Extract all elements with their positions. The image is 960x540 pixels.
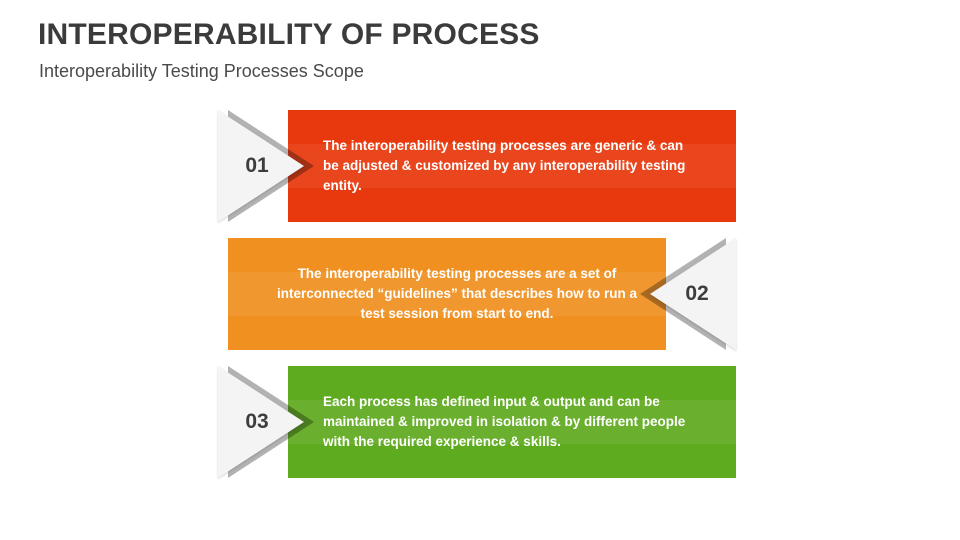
step-01-number: 01: [222, 110, 292, 222]
step-01-text-paragraph: The interoperability testing processes a…: [323, 136, 696, 196]
step-02-number: 02: [662, 238, 732, 350]
process-step-01[interactable]: 01 The interoperability testing processe…: [218, 110, 736, 222]
process-step-02[interactable]: 02 The interoperability testing processe…: [218, 238, 736, 350]
slide-canvas: INTEROPERABILITY OF PROCESS Interoperabi…: [0, 0, 960, 540]
process-step-03[interactable]: 03 Each process has defined input & outp…: [218, 366, 736, 478]
step-02-text: The interoperability testing processes a…: [273, 238, 641, 350]
step-03-number: 03: [222, 366, 292, 478]
step-01-text: The interoperability testing processes a…: [323, 110, 696, 222]
step-03-text: Each process has defined input & output …: [323, 366, 696, 478]
page-title: INTEROPERABILITY OF PROCESS: [38, 18, 540, 52]
step-03-text-paragraph: Each process has defined input & output …: [323, 392, 696, 452]
page-subtitle: Interoperability Testing Processes Scope: [39, 61, 364, 82]
step-02-text-paragraph: The interoperability testing processes a…: [273, 264, 641, 324]
